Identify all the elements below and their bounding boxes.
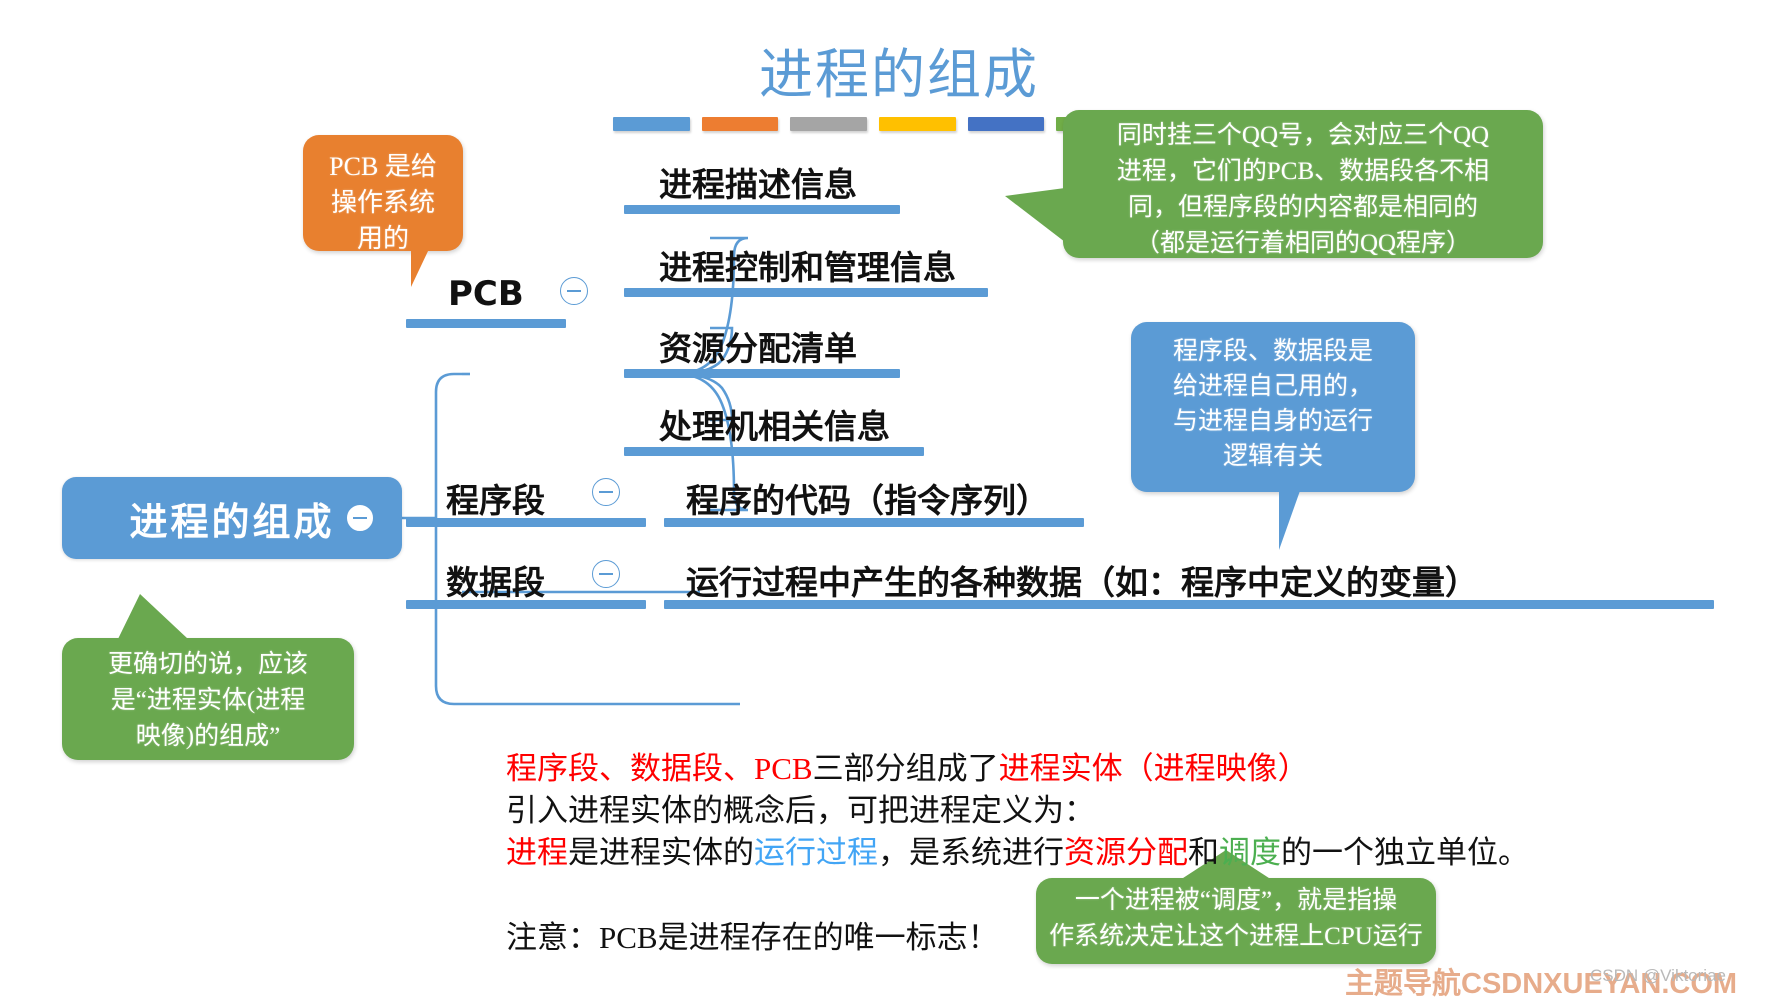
callout-segments-tail [1279,488,1315,550]
body-line-1: 程序段、数据段、PCB三部分组成了进程实体（进程映像） [506,748,1506,790]
body-line-2: 引入进程实体的概念后，可把进程定义为： [506,790,1506,832]
callout-segments: 程序段、数据段是 给进程自己用的， 与进程自身的运行 逻辑有关 [1131,322,1415,492]
mindmap-underline-pcb [406,319,566,328]
callout-process-entity: 更确切的说，应该 是“进程实体(进程 映像)的组成” [62,638,354,760]
mindmap-node-program-segment[interactable]: 程序段 [446,474,545,522]
body-line-3-part-6: 和 [1188,835,1219,870]
color-bar-2 [702,117,779,131]
body-note: 注意：PCB是进程存在的唯一标志！ [506,912,999,957]
callout-scheduling: 一个进程被“调度”，就是指操 作系统决定让这个进程上CPU运行 [1036,878,1436,964]
mindmap-underline-program-code [664,518,1084,527]
body-line-1-part-2: 三部分组成了 [813,751,999,786]
body-line-3-part-3: 运行过程 [754,835,878,870]
program-segment-collapse-icon[interactable] [592,478,620,506]
color-bar-1 [613,117,690,131]
color-bar-4 [879,117,956,131]
body-line-3-part-8: 的一个独立单位。 [1281,835,1529,870]
mindmap-node-pcb-child-3[interactable]: 资源分配清单 [659,322,857,370]
callout-pcb: PCB 是给 操作系统 用的 [303,135,463,251]
body-line-3-part-5: 资源分配 [1064,835,1188,870]
body-line-1-part-4: （进程映像） [1123,751,1309,786]
slide-canvas: 进程的组成 进程的组成 [0,0,1778,992]
mindmap-node-pcb-child-4[interactable]: 处理机相关信息 [659,400,890,448]
body-line-1-part-3: 进程实体 [999,751,1123,786]
page-title: 进程的组成 [0,30,1778,109]
callout-pcb-text: PCB 是给 操作系统 用的 [303,149,463,257]
body-line-3-part-4: ，是系统进行 [878,835,1064,870]
mindmap-node-pcb[interactable]: PCB [448,274,524,314]
mindmap-node-pcb-child-1[interactable]: 进程描述信息 [659,158,857,206]
root-collapse-icon[interactable] [346,504,374,532]
mindmap-underline-data-content [664,600,1714,609]
body-line-3: 进程是进程实体的运行过程，是系统进行资源分配和调度的一个独立单位。 [506,832,1506,874]
mindmap-node-program-code[interactable]: 程序的代码（指令序列） [686,474,1049,522]
data-segment-collapse-icon[interactable] [592,560,620,588]
body-line-3-part-1: 进程 [506,835,568,870]
callout-qq-text: 同时挂三个QQ号，会对应三个QQ 进程，它们的PCB、数据段各不相 同，但程序段… [1077,118,1529,262]
mindmap-underline-pcb-child-1 [624,205,900,214]
body-line-3-part-7: 调度 [1219,835,1281,870]
pcb-collapse-icon[interactable] [560,277,588,305]
callout-scheduling-text: 一个进程被“调度”，就是指操 作系统决定让这个进程上CPU运行 [1036,883,1436,955]
mindmap-node-pcb-child-2[interactable]: 进程控制和管理信息 [659,241,956,289]
mindmap-underline-program-segment [406,518,646,527]
mindmap-underline-pcb-child-3 [624,369,900,378]
color-bar-5 [968,117,1045,131]
mindmap-node-data-content[interactable]: 运行过程中产生的各种数据（如：程序中定义的变量） [686,556,1478,604]
body-paragraph: 程序段、数据段、PCB三部分组成了进程实体（进程映像） 引入进程实体的概念后，可… [506,748,1506,874]
callout-pcb-tail [411,249,439,287]
body-line-3-part-2: 是进程实体的 [568,835,754,870]
color-bar-row [613,117,1133,131]
csdn-watermark: CSDN @Viktoriae [1590,966,1726,986]
callout-segments-text: 程序段、数据段是 给进程自己用的， 与进程自身的运行 逻辑有关 [1131,334,1415,474]
mindmap-underline-pcb-child-4 [624,447,924,456]
callout-qq-processes: 同时挂三个QQ号，会对应三个QQ 进程，它们的PCB、数据段各不相 同，但程序段… [1063,110,1543,258]
mindmap-node-data-segment[interactable]: 数据段 [446,556,545,604]
callout-qq-tail [1005,188,1065,242]
body-line-1-part-1: 程序段、数据段、PCB [506,751,813,786]
mindmap-underline-data-segment [406,600,646,609]
callout-process-entity-text: 更确切的说，应该 是“进程实体(进程 映像)的组成” [62,647,354,755]
mindmap-underline-pcb-child-2 [624,288,988,297]
callout-process-entity-tail [118,594,188,639]
color-bar-3 [790,117,867,131]
